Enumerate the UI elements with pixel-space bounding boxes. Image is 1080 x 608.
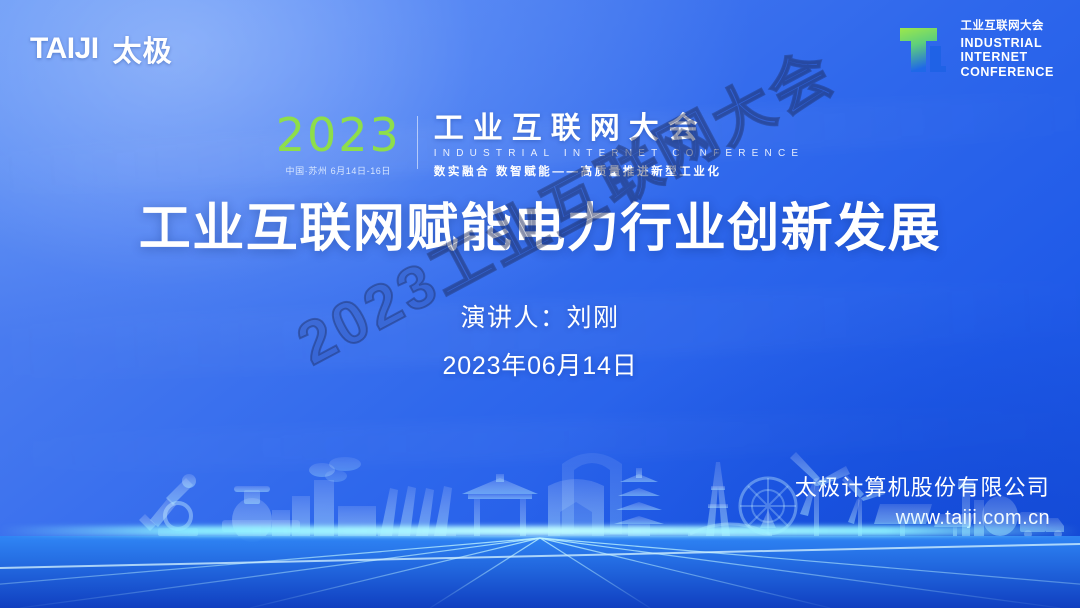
presentation-slide: TAIJI 太极 工业互联网大会 INDUSTRIAL INTERNET CON… bbox=[0, 0, 1080, 608]
conference-lockup: 2023 中国·苏州 6月14日-16日 工业互联网大会 INDUSTRIAL … bbox=[0, 112, 1080, 179]
bridge-icon bbox=[688, 524, 772, 536]
truck-icon bbox=[1020, 512, 1064, 538]
conference-place-date: 中国·苏州 6月14日-16日 bbox=[276, 164, 401, 177]
conference-title-block: 工业互联网大会 INDUSTRIAL INTERNET CONFERENCE 数… bbox=[434, 112, 804, 179]
conference-tagline: 数实融合 数智赋能——高质量推进新型工业化 bbox=[434, 163, 804, 179]
presentation-date: 2023年06月14日 bbox=[0, 346, 1080, 382]
conference-year-block: 2023 中国·苏州 6月14日-16日 bbox=[276, 112, 401, 179]
conference-mark-line2: INTERNET bbox=[960, 50, 1054, 65]
cityscape-illustration bbox=[0, 428, 1080, 608]
conference-mark-line1: INDUSTRIAL bbox=[960, 36, 1054, 51]
taiji-logo: TAIJI 太极 bbox=[30, 28, 173, 70]
conference-mark: 工业互联网大会 INDUSTRIAL INTERNET CONFERENCE bbox=[897, 20, 1054, 80]
conference-title-cn: 工业互联网大会 bbox=[434, 113, 804, 145]
conference-year: 2023 bbox=[276, 114, 401, 158]
factory-icon bbox=[272, 457, 376, 536]
taiji-logo-cn: 太极 bbox=[113, 28, 173, 70]
page-title: 工业互联网赋能电力行业创新发展 bbox=[0, 200, 1080, 260]
speaker-name: 演讲人：刘刚 bbox=[0, 298, 1080, 334]
pavilion-icon bbox=[462, 474, 538, 536]
oil-pump-icon bbox=[378, 486, 456, 538]
lockup-divider bbox=[417, 116, 418, 169]
conference-mark-name-cn: 工业互联网大会 bbox=[960, 20, 1054, 34]
taiji-logo-en: TAIJI bbox=[30, 32, 99, 66]
hall-icon bbox=[548, 479, 604, 536]
chemical-plant-icon bbox=[958, 480, 1018, 536]
skyline-shapes bbox=[139, 452, 1064, 542]
robot-arm-icon bbox=[139, 474, 198, 536]
speaker-block: 演讲人：刘刚 2023年06月14日 bbox=[0, 298, 1080, 382]
conference-mark-line3: CONFERENCE bbox=[960, 65, 1054, 80]
conference-title-en: INDUSTRIAL INTERNET CONFERENCE bbox=[434, 148, 804, 159]
solar-panel-icon bbox=[874, 504, 974, 536]
conference-mark-text: 工业互联网大会 INDUSTRIAL INTERNET CONFERENCE bbox=[960, 20, 1054, 80]
conference-t-mark-icon bbox=[897, 22, 949, 78]
wind-turbine-icon bbox=[790, 452, 885, 536]
